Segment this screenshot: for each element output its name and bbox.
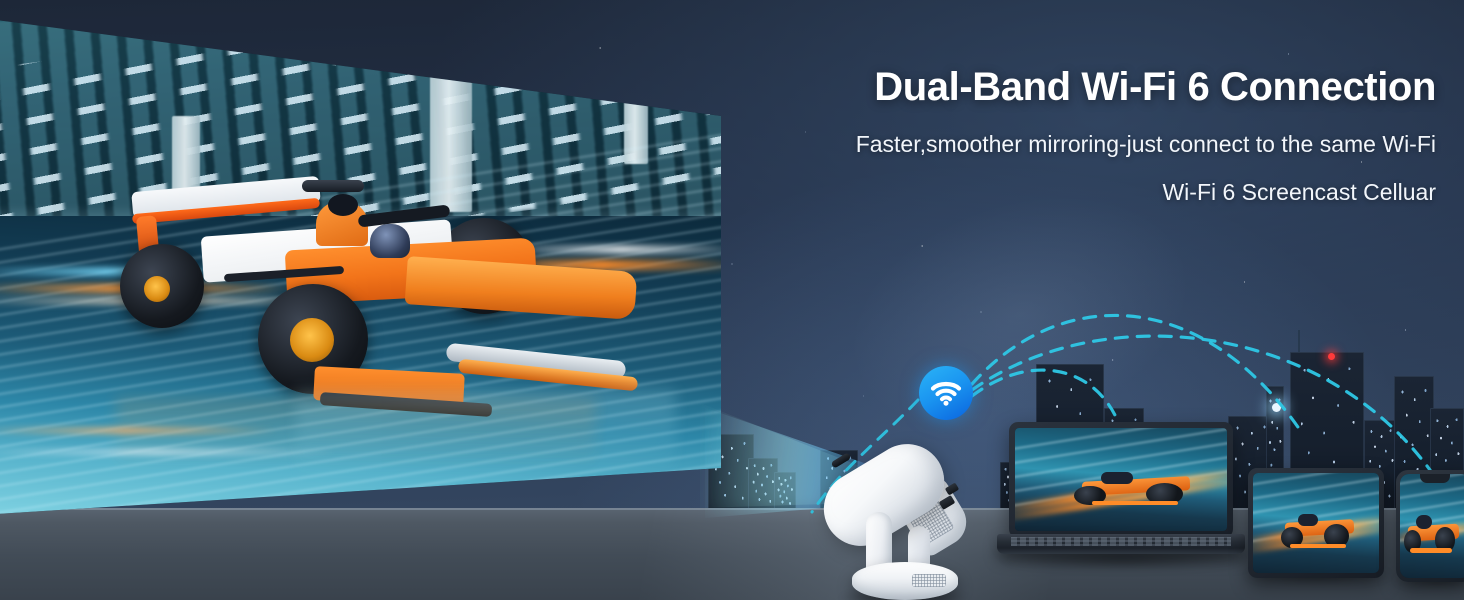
wifi-icon[interactable] bbox=[919, 366, 973, 420]
phone-notch bbox=[1420, 474, 1450, 483]
laptop-keyboard-base bbox=[997, 534, 1245, 554]
table-front-edge bbox=[0, 508, 1464, 510]
subtitle-line-1: Faster,smoother mirroring-just connect t… bbox=[736, 131, 1436, 158]
projector-lens bbox=[831, 452, 852, 468]
antenna-warning-light bbox=[1328, 353, 1335, 360]
marketing-copy: Dual-Band Wi-Fi 6 Connection Faster,smoo… bbox=[736, 66, 1436, 206]
laptop-device[interactable] bbox=[1009, 422, 1233, 562]
tablet-screen bbox=[1253, 473, 1379, 573]
promo-banner: Dual-Band Wi-Fi 6 Connection Faster,smoo… bbox=[0, 0, 1464, 600]
page-title: Dual-Band Wi-Fi 6 Connection bbox=[736, 66, 1436, 109]
projector-base-vent bbox=[912, 574, 946, 587]
subtitle-line-2: Wi-Fi 6 Screencast Celluar bbox=[736, 179, 1436, 206]
projector-device bbox=[812, 452, 972, 600]
f1-race-car bbox=[106, 166, 626, 416]
tablet-mirrored-content bbox=[1253, 473, 1379, 573]
tower-beacon bbox=[1272, 403, 1281, 412]
tablet-device[interactable] bbox=[1248, 468, 1384, 578]
phone-screen bbox=[1400, 474, 1464, 578]
laptop-mirrored-content bbox=[1015, 428, 1227, 531]
laptop-screen bbox=[1015, 428, 1227, 531]
phone-device[interactable] bbox=[1396, 470, 1464, 582]
phone-mirrored-content bbox=[1400, 474, 1464, 578]
table-reflection bbox=[0, 508, 1464, 600]
